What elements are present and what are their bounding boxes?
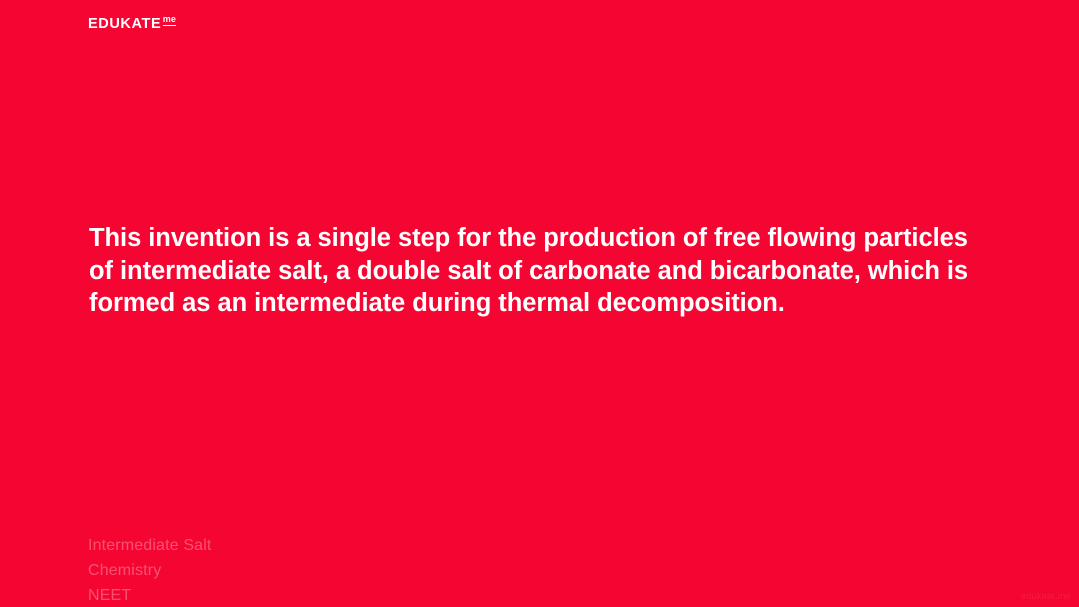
brand-logo[interactable]: EDUKATE me <box>88 17 176 32</box>
main-statement: This invention is a single step for the … <box>89 222 969 320</box>
tag-list: Intermediate Salt Chemistry NEET <box>88 533 212 607</box>
tag-item: Chemistry <box>88 558 212 583</box>
brand-superscript: me <box>163 15 176 26</box>
tag-item: NEET <box>88 583 212 607</box>
corner-watermark: edukate.me <box>1021 590 1071 602</box>
slide-canvas: EDUKATE me This invention is a single st… <box>0 0 1079 607</box>
brand-name: EDUKATE <box>88 17 161 32</box>
tag-item: Intermediate Salt <box>88 533 212 558</box>
